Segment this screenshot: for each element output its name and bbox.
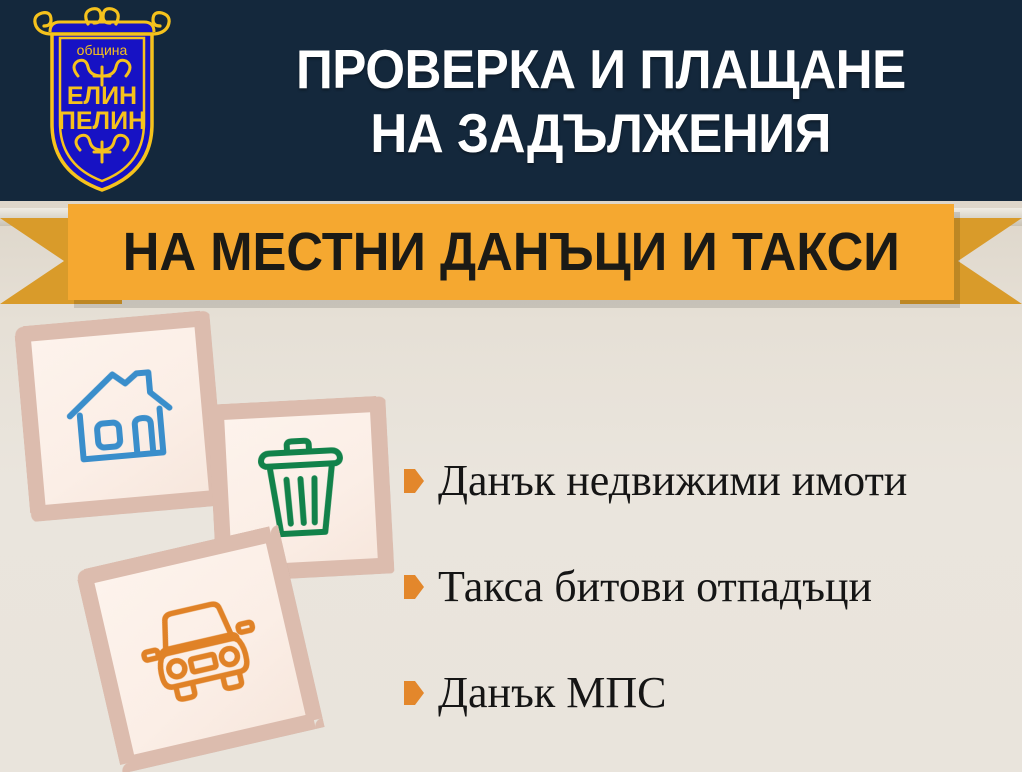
arrow-bullet-icon — [404, 681, 424, 705]
ribbon-body: НА МЕСТНИ ДАНЪЦИ И ТАКСИ — [68, 204, 954, 300]
car-front-icon — [131, 588, 270, 710]
list-item-label: Данък МПС — [438, 671, 666, 715]
stamp-card-property — [14, 310, 226, 522]
list-item-label: Данък недвижими имоти — [438, 459, 907, 503]
list-item[interactable]: Данък недвижими имоти — [404, 428, 1004, 534]
coat-of-arms-icon: община ЕЛИН ПЕЛИН — [22, 4, 182, 196]
page-title-line-2: НА ЗАДЪЛЖЕНИЯ — [371, 101, 832, 165]
page-title: ПРОВЕРКА И ПЛАЩАНЕ НА ЗАДЪЛЖЕНИЯ — [180, 0, 1022, 201]
page-title-line-1: ПРОВЕРКА И ПЛАЩАНЕ — [296, 37, 906, 101]
list-item[interactable]: Данък МПС — [404, 640, 1004, 746]
list-item-label: Такса битови отпадъци — [438, 565, 872, 609]
logo-word-line1: ЕЛИН — [67, 82, 137, 110]
header-banner: община ЕЛИН ПЕЛИН ПРОВЕРКА И ПЛАЩАНЕ НА … — [0, 0, 1022, 201]
logo-word-small: община — [77, 42, 128, 58]
arrow-bullet-icon — [404, 469, 424, 493]
list-item[interactable]: Такса битови отпадъци — [404, 534, 1004, 640]
arrow-bullet-icon — [404, 575, 424, 599]
tax-type-list: Данък недвижими имоти Такса битови отпад… — [404, 428, 1004, 746]
stamp-paper — [31, 327, 209, 505]
stamp-paper — [94, 543, 305, 754]
ribbon-label: НА МЕСТНИ ДАНЪЦИ И ТАКСИ — [123, 221, 900, 283]
municipality-logo: община ЕЛИН ПЕЛИН — [22, 4, 182, 196]
house-icon — [60, 359, 181, 472]
poster-root: община ЕЛИН ПЕЛИН ПРОВЕРКА И ПЛАЩАНЕ НА … — [0, 0, 1022, 772]
subtitle-ribbon: НА МЕСТНИ ДАНЪЦИ И ТАКСИ — [0, 196, 1022, 308]
logo-word-line2: ПЕЛИН — [58, 107, 146, 135]
